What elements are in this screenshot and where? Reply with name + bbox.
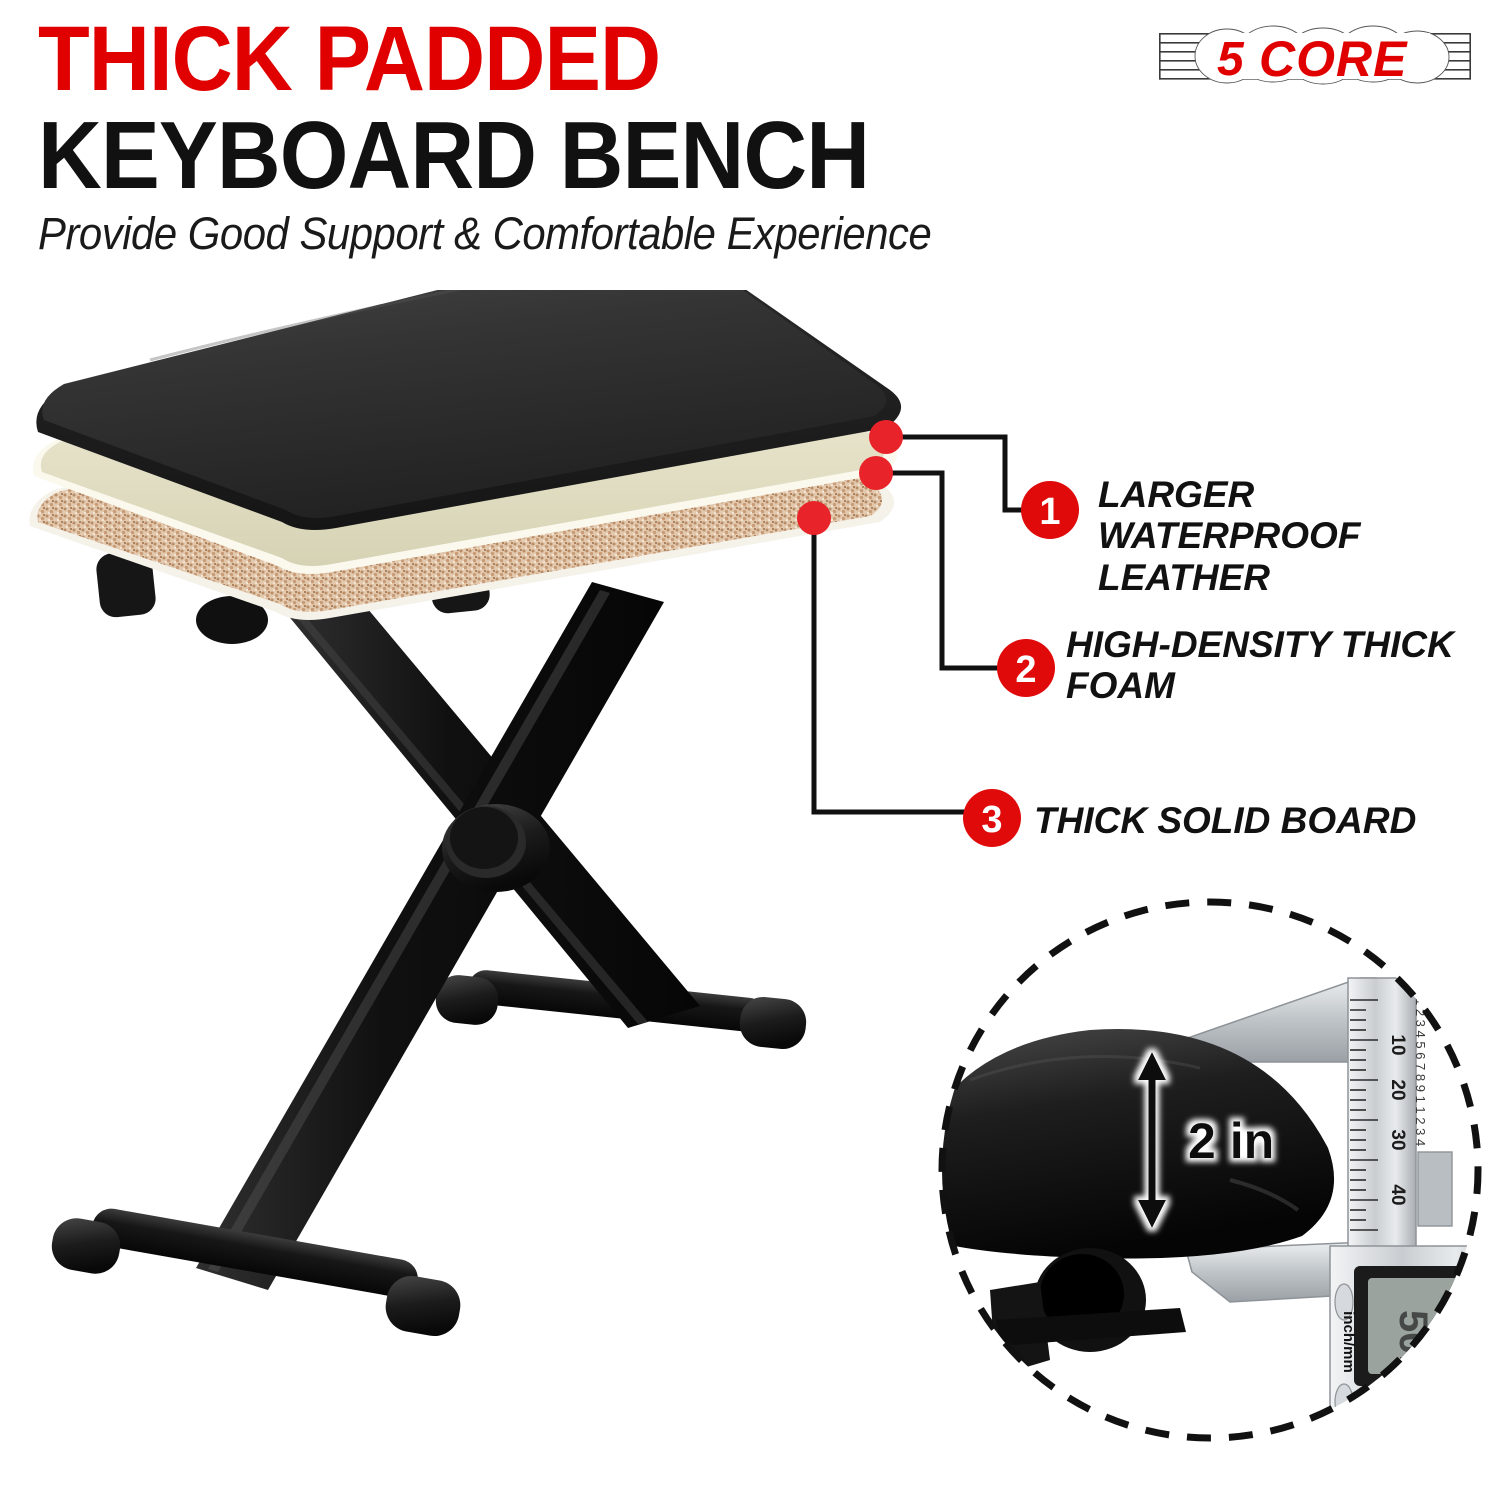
svg-text:2: 2 (1015, 649, 1036, 691)
caliper-scale-40: 40 (1387, 1184, 1408, 1205)
caliper-unit-button-label: inch/mm (1340, 1311, 1357, 1373)
header-banner: THICK PADDED KEYBOARD BENCH Provide Good… (0, 0, 1500, 280)
callout-badge-3: 3 (963, 789, 1021, 847)
thickness-measurement-label: 2 in (1188, 1113, 1274, 1169)
caliper-scale-inch: 1 2 3 4 5 6 7 8 9 1 1 2 3 4 (1413, 998, 1428, 1146)
logo-digit: 5 (1217, 33, 1245, 86)
caliper-off-button-label: OFF (1340, 1423, 1357, 1450)
caliper-sliding-block (1418, 1152, 1452, 1226)
bench-height-adjustment-knob[interactable] (442, 804, 550, 892)
svg-text:3: 3 (981, 799, 1002, 841)
caliper-digital-body: 50.40 inch/mm OFF (1330, 1246, 1490, 1450)
caliper-scale-20: 20 (1387, 1079, 1408, 1100)
callout-badge-1: 1 (1021, 481, 1079, 539)
caliper-beam-scale: 10 20 30 40 1 2 3 4 5 6 7 8 9 1 1 2 3 4 (1348, 978, 1428, 1248)
inset-detail-thickness-measurement: 10 20 30 40 1 2 3 4 5 6 7 8 9 1 1 2 3 4 … (930, 890, 1490, 1450)
page-tagline: Provide Good Support & Comfortable Exper… (38, 208, 931, 260)
caliper-scale-10: 10 (1387, 1034, 1408, 1055)
product-photo-keyboard-bench (0, 290, 960, 1430)
callout-badge-2: 2 (997, 639, 1055, 697)
logo-word: CORE (1259, 31, 1408, 87)
page-title-line2: KEYBOARD BENCH (38, 110, 869, 201)
callout-text-high-density-thick-foam: HIGH-DENSITY THICK FOAM (1066, 624, 1454, 707)
caliper-scale-30: 30 (1387, 1129, 1408, 1150)
brand-logo: 5 CORE (1155, 20, 1475, 100)
page-title-line1: THICK PADDED (38, 16, 660, 103)
callout-text-larger-waterproof-leather: LARGER WATERPROOF LEATHER (1098, 474, 1500, 598)
callout-text-thick-solid-board: THICK SOLID BOARD (1034, 800, 1416, 841)
svg-text:1: 1 (1039, 491, 1060, 533)
